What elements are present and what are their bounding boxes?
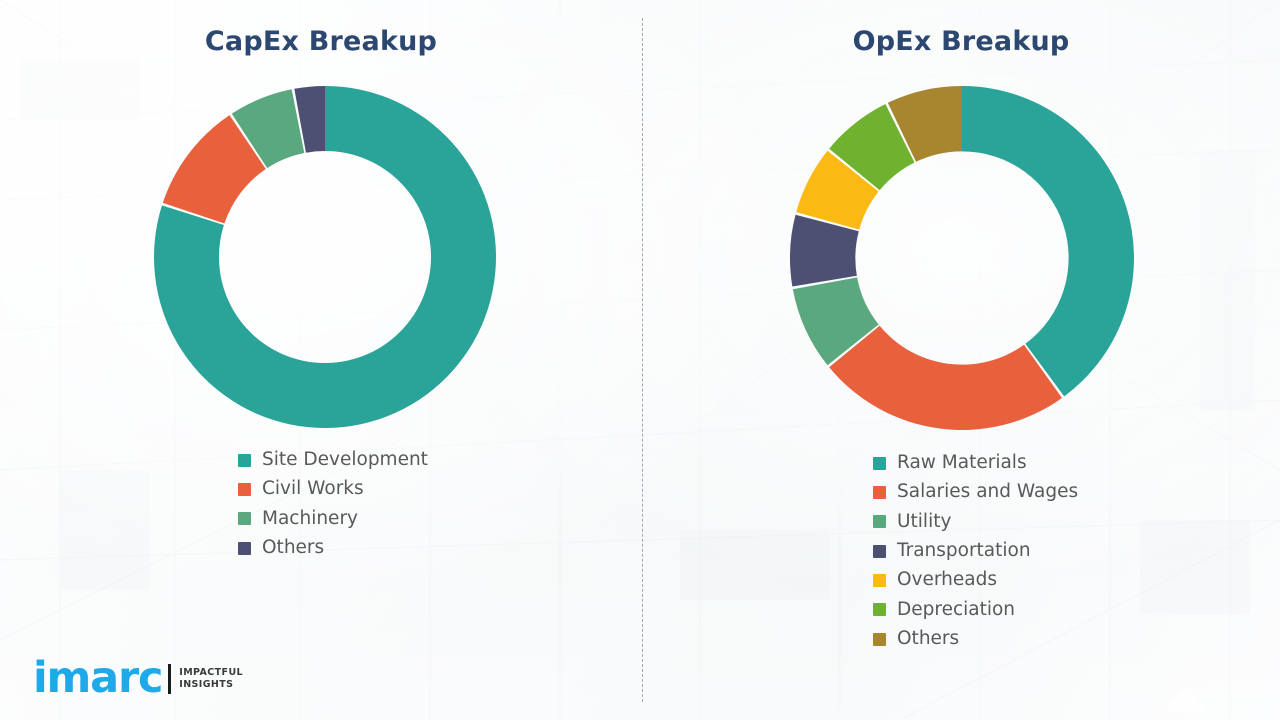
- legend-label: Raw Materials: [897, 453, 1027, 473]
- legend-swatch-icon: [873, 574, 886, 587]
- capex-legend: Site Development Civil Works Machinery O…: [238, 450, 428, 567]
- legend-label: Utility: [897, 512, 951, 532]
- legend-label: Others: [897, 629, 959, 649]
- opex-donut-chart: [786, 82, 1138, 438]
- legend-item[interactable]: Site Development: [238, 450, 428, 470]
- logo-divider-icon: [168, 664, 171, 694]
- legend-swatch-icon: [238, 512, 251, 525]
- opex-title: OpEx Breakup: [642, 26, 1280, 57]
- legend-swatch-icon: [873, 515, 886, 528]
- legend-swatch-icon: [873, 486, 886, 499]
- logo-tagline: IMPACTFUL INSIGHTS: [179, 667, 243, 691]
- legend-label: Overheads: [897, 570, 997, 590]
- legend-item[interactable]: Utility: [873, 512, 1078, 532]
- legend-swatch-icon: [873, 633, 886, 646]
- legend-swatch-icon: [238, 542, 251, 555]
- donut-segment[interactable]: [829, 326, 1062, 430]
- logo-tagline-line1: IMPACTFUL: [179, 667, 243, 678]
- legend-item[interactable]: Transportation: [873, 541, 1078, 561]
- legend-label: Others: [262, 538, 324, 558]
- capex-donut-chart: [150, 82, 500, 436]
- legend-swatch-icon: [873, 457, 886, 470]
- legend-swatch-icon: [873, 545, 886, 558]
- legend-label: Site Development: [262, 450, 428, 470]
- legend-item[interactable]: Civil Works: [238, 479, 428, 499]
- legend-item[interactable]: Salaries and Wages: [873, 482, 1078, 502]
- opex-donut-svg: [786, 82, 1138, 434]
- legend-item[interactable]: Raw Materials: [873, 453, 1078, 473]
- legend-swatch-icon: [238, 483, 251, 496]
- logo-tagline-line2: INSIGHTS: [179, 679, 233, 690]
- capex-title: CapEx Breakup: [0, 26, 642, 57]
- capex-panel: CapEx Breakup Site Development Civil Wor…: [0, 0, 642, 720]
- legend-label: Salaries and Wages: [897, 482, 1078, 502]
- opex-panel: OpEx Breakup Raw Materials Salaries and …: [642, 0, 1280, 720]
- legend-label: Transportation: [897, 541, 1031, 561]
- corner-arrow-icon: [1164, 686, 1208, 712]
- legend-label: Civil Works: [262, 479, 364, 499]
- legend-swatch-icon: [238, 454, 251, 467]
- legend-item[interactable]: Others: [238, 538, 428, 558]
- legend-label: Depreciation: [897, 600, 1015, 620]
- capex-donut-svg: [150, 82, 500, 432]
- slide-canvas: CapEx Breakup Site Development Civil Wor…: [0, 0, 1280, 720]
- legend-item[interactable]: Depreciation: [873, 600, 1078, 620]
- logo-wordmark: imarc: [33, 657, 162, 700]
- opex-legend: Raw Materials Salaries and Wages Utility…: [873, 453, 1078, 658]
- legend-swatch-icon: [873, 603, 886, 616]
- legend-item[interactable]: Others: [873, 629, 1078, 649]
- imarc-logo: imarc IMPACTFUL INSIGHTS: [33, 657, 243, 700]
- donut-segment[interactable]: [962, 86, 1134, 396]
- legend-item[interactable]: Machinery: [238, 509, 428, 529]
- legend-item[interactable]: Overheads: [873, 570, 1078, 590]
- legend-label: Machinery: [262, 509, 358, 529]
